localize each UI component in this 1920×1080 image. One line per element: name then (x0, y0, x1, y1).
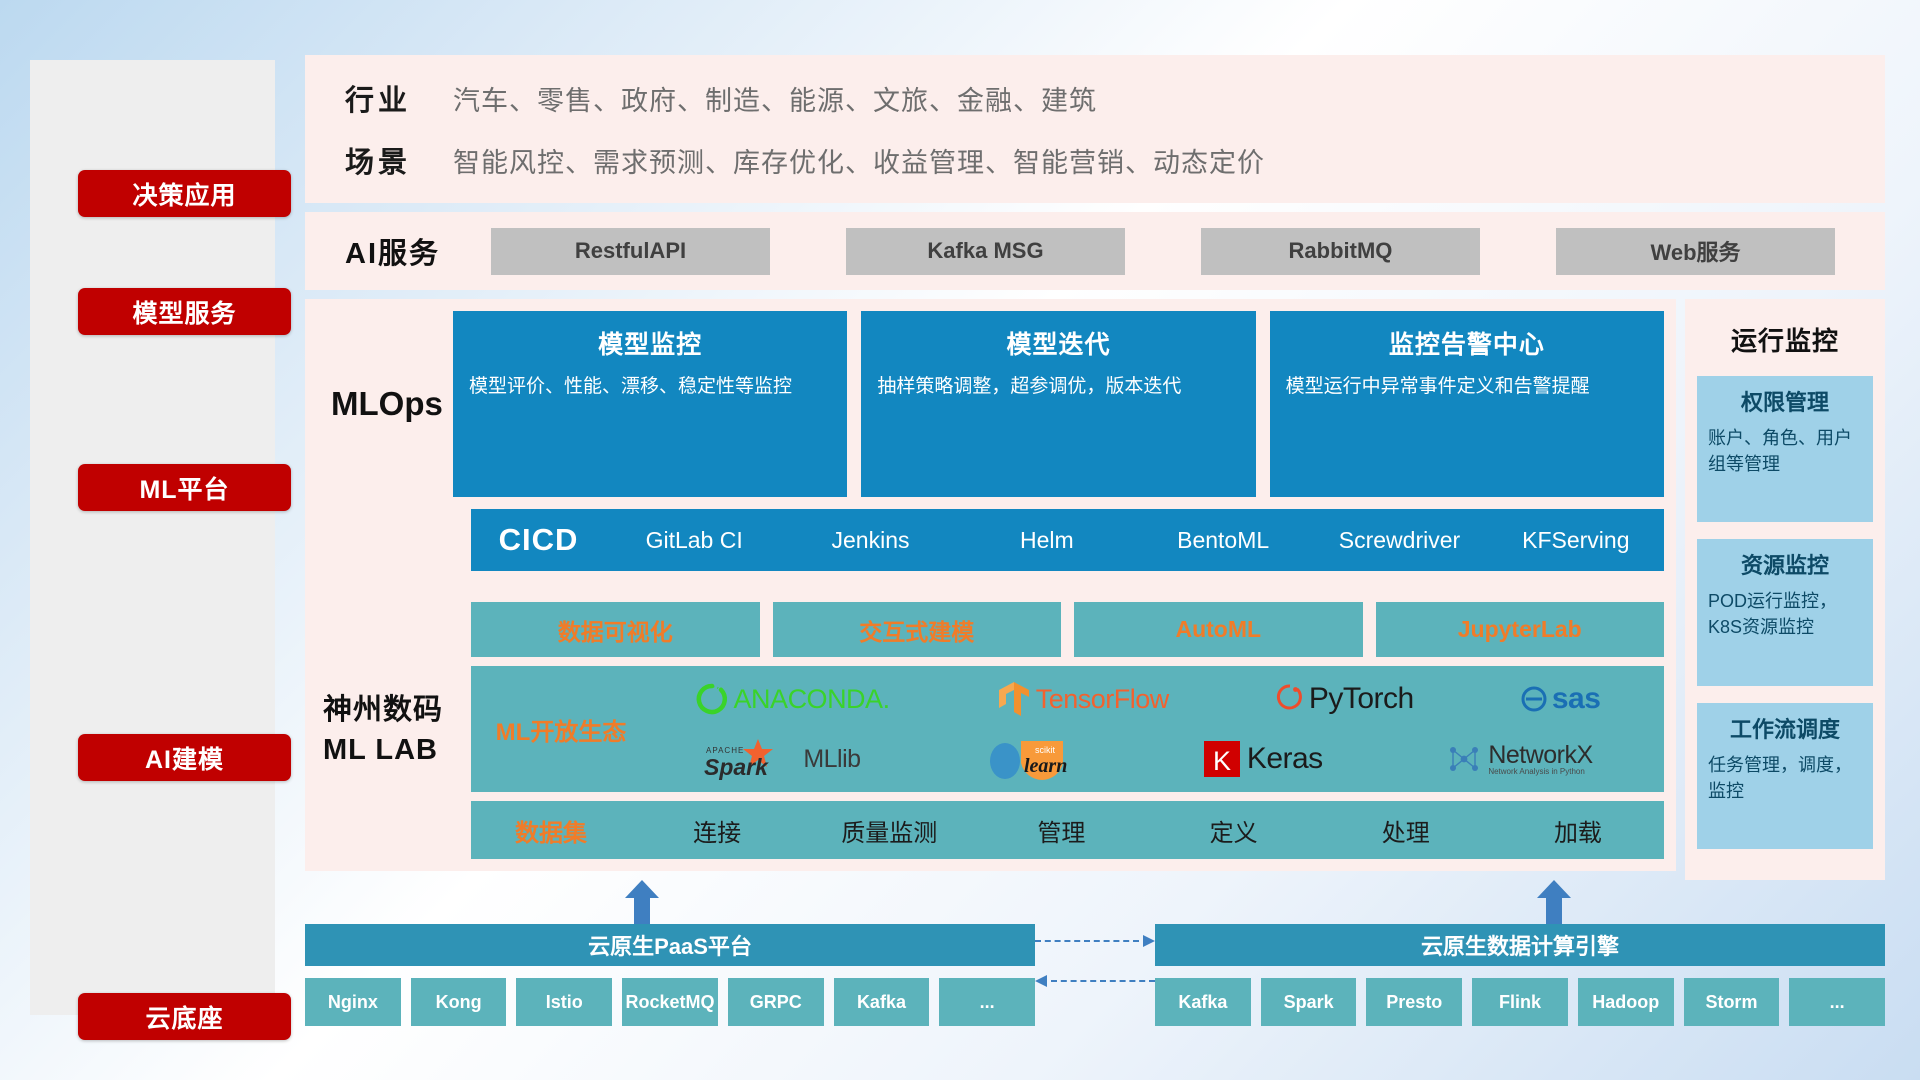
mlops-band: MLOps 模型监控 模型评价、性能、漂移、稳定性等监控 模型迭代 抽样策略调整… (305, 299, 1676, 509)
paas-chip-kafka[interactable]: Kafka (834, 978, 930, 1026)
dataset-item-manage[interactable]: 管理 (975, 813, 1147, 848)
tensorflow-logo: TensorFlow (997, 673, 1169, 725)
cicd-bar: CICD GitLab CI Jenkins Helm BentoML Scre… (471, 509, 1664, 571)
paas-column: 云原生PaaS平台 Nginx Kong Istio RocketMQ GRPC… (305, 924, 1035, 1026)
stage-chip-decision-app[interactable]: 决策应用 (78, 170, 291, 217)
arrow-head-left-icon (1035, 975, 1047, 987)
mlops-card-title: 模型监控 (469, 325, 831, 361)
ml-lab-tool-data-viz[interactable]: 数据可视化 (471, 602, 760, 657)
scenario-label: 场景 (323, 139, 453, 181)
monitor-card-permissions[interactable]: 权限管理 账户、角色、用户组等管理 (1697, 376, 1873, 522)
cloud-foundation: 云原生PaaS平台 Nginx Kong Istio RocketMQ GRPC… (305, 880, 1885, 1040)
anaconda-logo: ANACONDA. (695, 673, 890, 725)
engine-title-bar: 云原生数据计算引擎 (1155, 924, 1885, 966)
ai-service-label: Kafka MSG (927, 238, 1043, 264)
tensorflow-wordmark: TensorFlow (1036, 684, 1169, 715)
ml-ecosystem-logo-row-1: ANACONDA. TensorFlow (641, 670, 1654, 728)
up-arrow-paas (625, 880, 659, 924)
scikit-learn-icon: scikit learn (983, 737, 1079, 781)
paas-chips: Nginx Kong Istio RocketMQ GRPC Kafka ... (305, 978, 1035, 1026)
stage-chip-model-service[interactable]: 模型服务 (78, 288, 291, 335)
cicd-item-helm[interactable]: Helm (959, 526, 1135, 555)
arrow-head-right-icon (1143, 935, 1155, 947)
industry-row: 行业 汽车、零售、政府、制造、能源、文旅、金融、建筑 (323, 67, 1885, 129)
svg-text:scikit: scikit (1035, 745, 1055, 755)
ai-service-label: Web服务 (1650, 235, 1740, 267)
dataset-row: 数据集 连接 质量监测 管理 定义 处理 加载 (471, 801, 1664, 859)
ops-monitor-title: 运行监控 (1697, 321, 1873, 358)
paas-chip-kong[interactable]: Kong (411, 978, 507, 1026)
ml-ecosystem-logos: ANACONDA. TensorFlow (641, 670, 1654, 788)
paas-chip-rocketmq[interactable]: RocketMQ (622, 978, 718, 1026)
ml-lab-label: 神州数码 ML LAB (323, 602, 471, 859)
ml-lab-band: 神州数码 ML LAB 数据可视化 交互式建模 AutoML JupyterLa… (305, 590, 1676, 871)
platform-left: MLOps 模型监控 模型评价、性能、漂移、稳定性等监控 模型迭代 抽样策略调整… (305, 299, 1676, 880)
stage-chip-label: 模型服务 (132, 294, 236, 330)
networkx-wordmark: NetworkX (1488, 743, 1592, 768)
dashed-line (1051, 980, 1155, 982)
monitor-card-title: 资源监控 (1708, 548, 1862, 580)
ml-ecosystem-title: ML开放生态 (481, 712, 641, 747)
stage-chip-label: AI建模 (145, 740, 224, 776)
cicd-item-kfserving[interactable]: KFServing (1488, 526, 1664, 555)
sas-wordmark: sas (1552, 682, 1601, 716)
mlops-card-model-iteration[interactable]: 模型迭代 抽样策略调整，超参调优，版本迭代 (861, 311, 1255, 497)
engine-chip-hadoop[interactable]: Hadoop (1578, 978, 1674, 1026)
engine-chip-storm[interactable]: Storm (1684, 978, 1780, 1026)
ops-monitor-column: 运行监控 权限管理 账户、角色、用户组等管理 资源监控 POD运行监控，K8S资… (1685, 299, 1885, 880)
ai-service-restfulapi[interactable]: RestfulAPI (491, 228, 770, 275)
dataset-title: 数据集 (471, 813, 631, 848)
keras-wordmark: Keras (1247, 742, 1323, 776)
ai-services-band: AI服务 RestfulAPI Kafka MSG RabbitMQ Web服务 (305, 212, 1885, 290)
dashed-line (1035, 940, 1139, 942)
engine-chips: Kafka Spark Presto Flink Hadoop Storm ..… (1155, 978, 1885, 1026)
mlops-card-model-monitoring[interactable]: 模型监控 模型评价、性能、漂移、稳定性等监控 (453, 311, 847, 497)
cicd-item-gitlab-ci[interactable]: GitLab CI (606, 526, 782, 555)
ai-service-web[interactable]: Web服务 (1556, 228, 1835, 275)
scenario-row: 场景 智能风控、需求预测、库存优化、收益管理、智能营销、动态定价 (323, 129, 1885, 191)
architecture-diagram: 决策应用 模型服务 ML平台 AI建模 云底座 行业 汽车、零售、政府、制造、能… (0, 0, 1920, 1080)
bidirectional-links (1035, 934, 1155, 1004)
engine-chip-kafka[interactable]: Kafka (1155, 978, 1251, 1026)
stage-chip-label: 云底座 (145, 999, 223, 1035)
ai-services-items: RestfulAPI Kafka MSG RabbitMQ Web服务 (453, 228, 1885, 275)
paas-title-bar: 云原生PaaS平台 (305, 924, 1035, 966)
cicd-item-jenkins[interactable]: Jenkins (782, 526, 958, 555)
monitor-card-desc: POD运行监控，K8S资源监控 (1708, 588, 1862, 640)
sas-icon (1521, 686, 1547, 712)
ml-lab-tool-interactive-modeling[interactable]: 交互式建模 (773, 602, 1062, 657)
stage-chip-ml-platform[interactable]: ML平台 (78, 464, 291, 511)
stage-chip-label: ML平台 (139, 470, 229, 506)
mlops-card-title: 模型迭代 (877, 325, 1239, 361)
pytorch-wordmark: PyTorch (1309, 682, 1414, 716)
paas-chip-more[interactable]: ... (939, 978, 1035, 1026)
industry-value: 汽车、零售、政府、制造、能源、文旅、金融、建筑 (453, 79, 1097, 118)
ai-service-kafka-msg[interactable]: Kafka MSG (846, 228, 1125, 275)
keras-logo: K Keras (1202, 733, 1323, 785)
ai-service-rabbitmq[interactable]: RabbitMQ (1201, 228, 1480, 275)
monitor-card-desc: 账户、角色、用户组等管理 (1708, 425, 1862, 477)
stage-chip-ai-modeling[interactable]: AI建模 (78, 734, 291, 781)
main-column: 行业 汽车、零售、政府、制造、能源、文旅、金融、建筑 场景 智能风控、需求预测、… (305, 55, 1885, 880)
engine-chip-spark[interactable]: Spark (1261, 978, 1357, 1026)
paas-chip-nginx[interactable]: Nginx (305, 978, 401, 1026)
cicd-wrap: CICD GitLab CI Jenkins Helm BentoML Scre… (305, 509, 1676, 590)
dataset-item-load[interactable]: 加载 (1492, 813, 1664, 848)
engine-chip-more[interactable]: ... (1789, 978, 1885, 1026)
industry-scenario-band: 行业 汽车、零售、政府、制造、能源、文旅、金融、建筑 场景 智能风控、需求预测、… (305, 55, 1885, 203)
ml-ecosystem-panel: ML开放生态 ANACONDA. (471, 666, 1664, 792)
paas-chip-grpc[interactable]: GRPC (728, 978, 824, 1026)
svg-text:learn: learn (1024, 755, 1067, 777)
mlops-card-desc: 模型评价、性能、漂移、稳定性等监控 (469, 373, 831, 402)
stage-rail: 决策应用 模型服务 ML平台 AI建模 (30, 60, 275, 1015)
networkx-wordmark-wrap: NetworkX Network Analysis in Python (1488, 743, 1592, 776)
monitor-card-resources[interactable]: 资源监控 POD运行监控，K8S资源监控 (1697, 539, 1873, 685)
tensorflow-icon (997, 680, 1031, 718)
cicd-item-bentoml[interactable]: BentoML (1135, 526, 1311, 555)
pytorch-icon (1276, 682, 1304, 716)
ml-lab-tool-automl[interactable]: AutoML (1074, 602, 1363, 657)
stage-chip-label: 决策应用 (132, 176, 236, 212)
ml-lab-body: 数据可视化 交互式建模 AutoML JupyterLab ML开放生态 (471, 602, 1664, 859)
monitor-card-title: 权限管理 (1708, 385, 1862, 417)
cicd-title: CICD (471, 522, 606, 558)
monitor-card-desc: 任务管理，调度，监控 (1708, 752, 1862, 804)
mlops-label: MLOps (323, 311, 453, 497)
engine-chip-flink[interactable]: Flink (1472, 978, 1568, 1026)
ml-lab-tools: 数据可视化 交互式建模 AutoML JupyterLab (471, 602, 1664, 657)
dataset-item-process[interactable]: 处理 (1320, 813, 1492, 848)
ai-service-label: RabbitMQ (1289, 238, 1393, 264)
spark-mllib-logo: APACHE Spark MLlib (702, 733, 860, 785)
engine-chip-presto[interactable]: Presto (1366, 978, 1462, 1026)
ml-lab-label-line2: ML LAB (323, 731, 471, 770)
engine-column: 云原生数据计算引擎 Kafka Spark Presto Flink Hadoo… (1155, 924, 1885, 1026)
dashed-arrow-left (1035, 980, 1155, 982)
mlops-card-title: 监控告警中心 (1286, 325, 1648, 361)
ml-lab-label-line1: 神州数码 (323, 691, 471, 730)
dataset-item-quality-monitor[interactable]: 质量监测 (803, 813, 975, 848)
flow-arrows (305, 880, 1885, 924)
svg-text:K: K (1213, 746, 1231, 776)
anaconda-icon (695, 682, 729, 716)
paas-chip-istio[interactable]: Istio (516, 978, 612, 1026)
dataset-item-connect[interactable]: 连接 (631, 813, 803, 848)
mllib-wordmark: MLlib (803, 745, 860, 774)
networkx-tagline: Network Analysis in Python (1488, 768, 1592, 776)
svg-text:Spark: Spark (704, 754, 769, 780)
ai-services-label: AI服务 (323, 230, 453, 272)
monitor-card-workflow[interactable]: 工作流调度 任务管理，调度，监控 (1697, 703, 1873, 849)
networkx-icon (1445, 740, 1483, 778)
sas-logo: sas (1521, 673, 1601, 725)
anaconda-wordmark: ANACONDA. (734, 684, 890, 715)
industry-label: 行业 (323, 77, 453, 119)
ml-lab-tool-jupyterlab[interactable]: JupyterLab (1376, 602, 1665, 657)
mlops-cards: 模型监控 模型评价、性能、漂移、稳定性等监控 模型迭代 抽样策略调整，超参调优，… (453, 311, 1664, 497)
platform-wrap: MLOps 模型监控 模型评价、性能、漂移、稳定性等监控 模型迭代 抽样策略调整… (305, 299, 1885, 880)
mlops-card-desc: 模型运行中异常事件定义和告警提醒 (1286, 373, 1648, 402)
pytorch-logo: PyTorch (1276, 673, 1414, 725)
spark-icon: APACHE Spark (702, 737, 798, 781)
mlops-card-desc: 抽样策略调整，超参调优，版本迭代 (877, 373, 1239, 402)
keras-icon: K (1202, 739, 1242, 779)
networkx-logo: NetworkX Network Analysis in Python (1445, 733, 1592, 785)
scenario-value: 智能风控、需求预测、库存优化、收益管理、智能营销、动态定价 (453, 141, 1265, 180)
monitor-card-title: 工作流调度 (1708, 712, 1862, 744)
ai-service-label: RestfulAPI (575, 238, 686, 264)
mlops-card-alert-center[interactable]: 监控告警中心 模型运行中异常事件定义和告警提醒 (1270, 311, 1664, 497)
cicd-item-screwdriver[interactable]: Screwdriver (1311, 526, 1487, 555)
up-arrow-engine (1537, 880, 1571, 924)
ml-ecosystem-logo-row-2: APACHE Spark MLlib (641, 730, 1654, 788)
scikit-learn-logo: scikit learn (983, 733, 1079, 785)
dataset-item-define[interactable]: 定义 (1148, 813, 1320, 848)
dashed-arrow-right (1035, 940, 1155, 942)
stage-chip-cloud-base[interactable]: 云底座 (78, 993, 291, 1040)
